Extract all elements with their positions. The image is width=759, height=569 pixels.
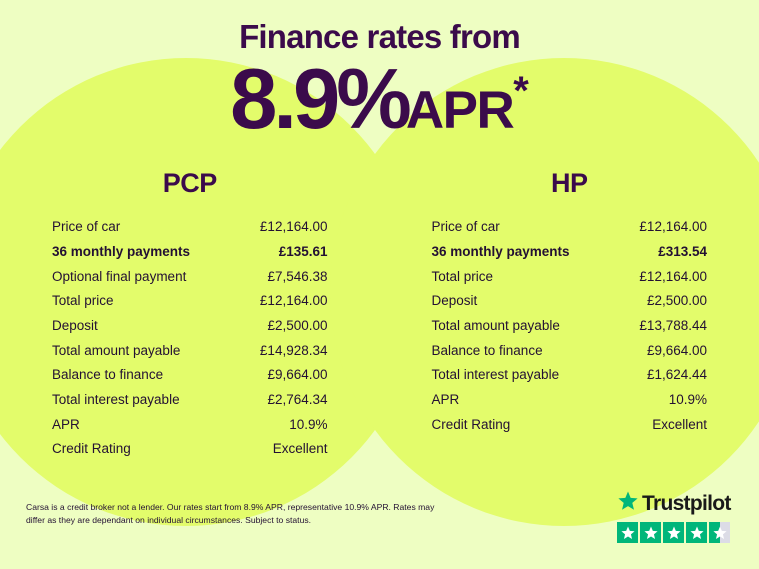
headline-rate: 8.9% APR * bbox=[0, 57, 759, 142]
plan-row: APR10.9% bbox=[432, 387, 708, 412]
plan-row-label: APR bbox=[432, 393, 460, 407]
plan-row-label: Total price bbox=[52, 294, 114, 308]
plan-row-label: Total amount payable bbox=[52, 344, 180, 358]
plan-row-value: £12,164.00 bbox=[639, 270, 707, 284]
plan-row-label: Balance to finance bbox=[52, 368, 163, 382]
plan-row-value: 10.9% bbox=[669, 393, 707, 407]
rate-value: 8.9% bbox=[230, 57, 408, 142]
plan-row-label: Balance to finance bbox=[432, 344, 543, 358]
plan-row-value: £7,546.38 bbox=[267, 270, 327, 284]
plan-title-hp: HP bbox=[432, 168, 708, 199]
trustpilot-star-filled bbox=[617, 522, 638, 543]
plan-row-value: £2,500.00 bbox=[267, 319, 327, 333]
disclaimer-text: Carsa is a credit broker not a lender. O… bbox=[26, 501, 446, 528]
plan-row: Balance to finance£9,664.00 bbox=[52, 363, 328, 388]
plan-row-value: Excellent bbox=[273, 442, 328, 456]
plan-row-value: £12,164.00 bbox=[639, 220, 707, 234]
plan-row: 36 monthly payments£313.54 bbox=[432, 239, 708, 264]
trustpilot-star-rating bbox=[617, 522, 735, 543]
plan-row-label: Optional final payment bbox=[52, 270, 186, 284]
promo-card: Finance rates from 8.9% APR * PCP Price … bbox=[0, 0, 759, 569]
trustpilot-star-half bbox=[709, 522, 730, 543]
plan-row: Credit RatingExcellent bbox=[432, 412, 708, 437]
plan-row-value: £9,664.00 bbox=[647, 344, 707, 358]
plan-row-label: Total interest payable bbox=[52, 393, 180, 407]
trustpilot-rating[interactable]: Trustpilot bbox=[617, 490, 735, 543]
plan-row: Credit RatingExcellent bbox=[52, 437, 328, 462]
plan-row-value: 10.9% bbox=[289, 418, 327, 432]
rate-unit: APR bbox=[406, 84, 513, 137]
plan-row: Price of car£12,164.00 bbox=[52, 215, 328, 240]
trustpilot-star-filled bbox=[686, 522, 707, 543]
plan-row-label: Deposit bbox=[52, 319, 98, 333]
trustpilot-star-icon bbox=[617, 490, 639, 517]
trustpilot-star-filled bbox=[663, 522, 684, 543]
trustpilot-wordmark-text: Trustpilot bbox=[642, 493, 731, 514]
plan-row-label: Price of car bbox=[432, 220, 500, 234]
plan-row-value: £1,624.44 bbox=[647, 368, 707, 382]
plan-row-label: Total interest payable bbox=[432, 368, 560, 382]
plan-row-value: £13,788.44 bbox=[639, 319, 707, 333]
plan-row-label: Total price bbox=[432, 270, 494, 284]
plan-row-label: 36 monthly payments bbox=[432, 245, 570, 259]
plan-row: Price of car£12,164.00 bbox=[432, 215, 708, 240]
finance-plan-comparison: PCP Price of car£12,164.0036 monthly pay… bbox=[0, 168, 759, 462]
plan-row: Total interest payable£1,624.44 bbox=[432, 363, 708, 388]
plan-title-pcp: PCP bbox=[52, 168, 328, 199]
plan-row: Deposit£2,500.00 bbox=[432, 289, 708, 314]
plan-row-label: 36 monthly payments bbox=[52, 245, 190, 259]
plan-rows-hp: Price of car£12,164.0036 monthly payment… bbox=[432, 215, 708, 437]
plan-row: Optional final payment£7,546.38 bbox=[52, 264, 328, 289]
header: Finance rates from 8.9% APR * bbox=[0, 0, 759, 142]
plan-row-label: Deposit bbox=[432, 294, 478, 308]
trustpilot-logo: Trustpilot bbox=[617, 490, 735, 517]
plan-row-value: £2,500.00 bbox=[647, 294, 707, 308]
page-title: Finance rates from bbox=[0, 20, 759, 55]
plan-row-value: £2,764.34 bbox=[267, 393, 327, 407]
plan-row: Total interest payable£2,764.34 bbox=[52, 387, 328, 412]
plan-row-label: Credit Rating bbox=[52, 442, 131, 456]
finance-plan-hp: HP Price of car£12,164.0036 monthly paym… bbox=[380, 168, 759, 462]
plan-row: Deposit£2,500.00 bbox=[52, 313, 328, 338]
plan-row: 36 monthly payments£135.61 bbox=[52, 239, 328, 264]
plan-row-value: £12,164.00 bbox=[260, 294, 328, 308]
plan-row-value: £313.54 bbox=[658, 245, 707, 259]
plan-row-label: APR bbox=[52, 418, 80, 432]
trustpilot-star-filled bbox=[640, 522, 661, 543]
plan-row-value: £14,928.34 bbox=[260, 344, 328, 358]
plan-row-label: Total amount payable bbox=[432, 319, 560, 333]
plan-row: APR10.9% bbox=[52, 412, 328, 437]
plan-row-value: £12,164.00 bbox=[260, 220, 328, 234]
plan-row-label: Credit Rating bbox=[432, 418, 511, 432]
footer: Carsa is a credit broker not a lender. O… bbox=[0, 487, 759, 569]
plan-row: Total price£12,164.00 bbox=[52, 289, 328, 314]
plan-row: Balance to finance£9,664.00 bbox=[432, 338, 708, 363]
plan-row: Total amount payable£13,788.44 bbox=[432, 313, 708, 338]
plan-row: Total price£12,164.00 bbox=[432, 264, 708, 289]
finance-plan-pcp: PCP Price of car£12,164.0036 monthly pay… bbox=[0, 168, 380, 462]
plan-row-value: £9,664.00 bbox=[267, 368, 327, 382]
plan-rows-pcp: Price of car£12,164.0036 monthly payment… bbox=[52, 215, 328, 462]
plan-row: Total amount payable£14,928.34 bbox=[52, 338, 328, 363]
asterisk-icon: * bbox=[513, 71, 529, 111]
plan-row-value: £135.61 bbox=[279, 245, 328, 259]
plan-row-value: Excellent bbox=[652, 418, 707, 432]
plan-row-label: Price of car bbox=[52, 220, 120, 234]
